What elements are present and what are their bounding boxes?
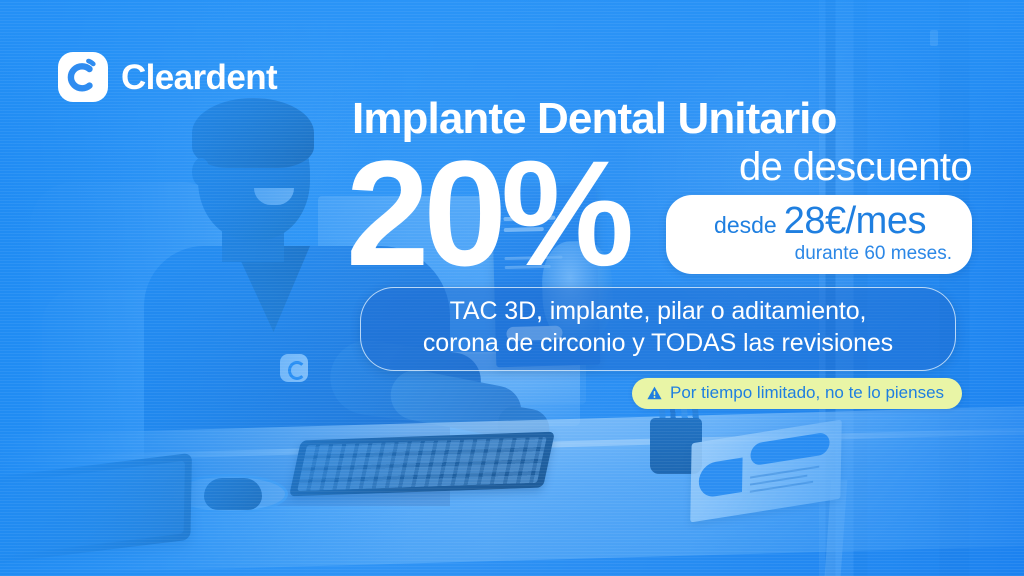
brand-logo[interactable]: Cleardent: [58, 52, 277, 102]
price-main-line: desde 28€/mes: [688, 202, 952, 240]
includes-box: TAC 3D, implante, pilar o aditamiento, c…: [360, 287, 956, 371]
discount-percent: 20%: [346, 138, 628, 288]
cleardent-c-mark-icon: [58, 52, 108, 102]
price-badge: desde 28€/mes durante 60 meses.: [666, 195, 972, 274]
urgency-badge: Por tiempo limitado, no te lo pienses: [632, 378, 962, 409]
ad-content: Cleardent Implante Dental Unitario 20% d…: [0, 0, 1024, 576]
includes-line-1: TAC 3D, implante, pilar o aditamiento,: [387, 296, 929, 328]
price-amount: 28€/mes: [784, 202, 926, 240]
price-prefix: desde: [714, 214, 777, 237]
includes-line-2: corona de circonio y TODAS las revisione…: [387, 328, 929, 360]
advertisement-banner: Cleardent Implante Dental Unitario 20% d…: [0, 0, 1024, 576]
offer-details: de descuento desde 28€/mes durante 60 me…: [648, 146, 972, 274]
warning-triangle-icon: [647, 386, 662, 400]
offer-block: 20% de descuento desde 28€/mes durante 6…: [352, 146, 972, 286]
price-duration: durante 60 meses.: [688, 243, 952, 265]
discount-label: de descuento: [739, 146, 972, 189]
urgency-text: Por tiempo limitado, no te lo pienses: [670, 383, 944, 403]
brand-wordmark: Cleardent: [121, 60, 277, 95]
